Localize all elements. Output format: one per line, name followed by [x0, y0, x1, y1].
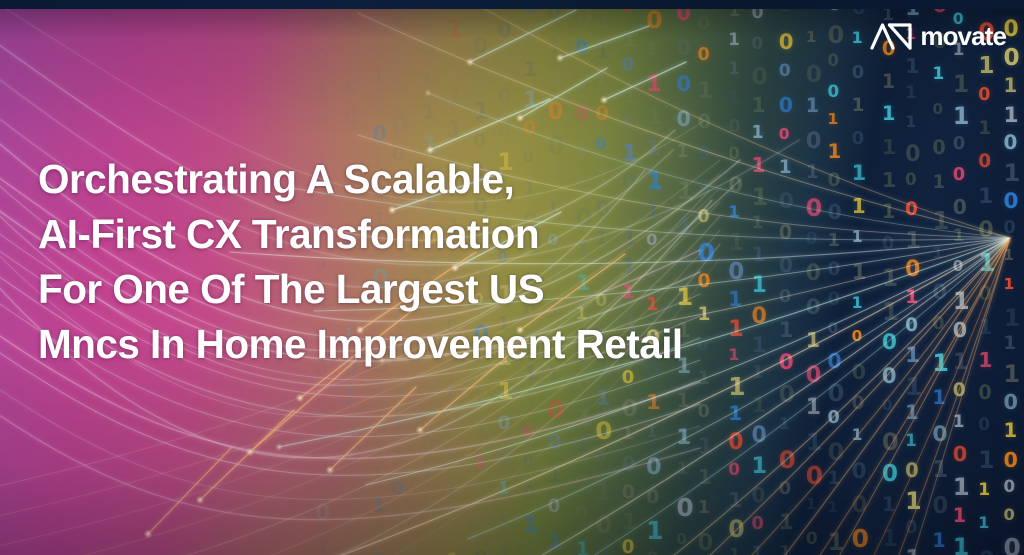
movate-m-icon — [869, 18, 913, 52]
headline-line-1: Orchestrating A Scalable, — [38, 152, 858, 207]
hero-banner: 0010101010011101010000101010100000001101… — [0, 0, 1024, 555]
headline-line-4: Mncs In Home Improvement Retail — [38, 317, 858, 372]
top-bar — [0, 0, 1024, 9]
movate-logo[interactable]: movate — [869, 18, 1006, 52]
headline-line-2: AI-First CX Transformation — [38, 207, 858, 262]
headline-line-3: For One Of The Largest US — [38, 262, 858, 317]
movate-wordmark: movate — [920, 23, 1006, 49]
headline: Orchestrating A Scalable, AI-First CX Tr… — [38, 152, 858, 372]
